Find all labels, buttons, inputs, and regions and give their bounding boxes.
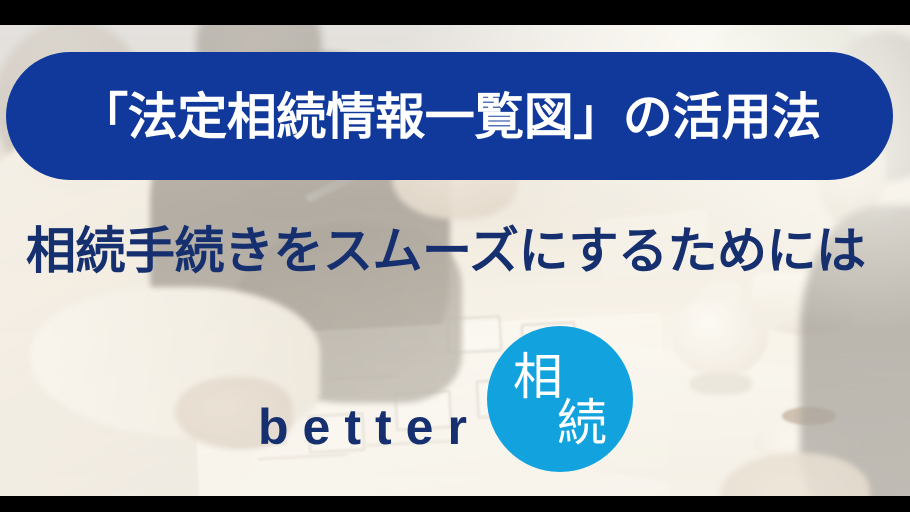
letterbox-top-bar (0, 0, 910, 25)
subtitle-text: 相続手続きをスムーズにするためには (26, 224, 886, 278)
banner-title-text: 「法定相続情報一覧図」の活用法 (78, 92, 821, 142)
letterbox-bottom-bar (0, 496, 910, 512)
logo-kanji-zoku: 続 (557, 398, 607, 448)
logo-kanji-sou: 相 (513, 352, 563, 402)
brand-logo: better 相 続 (258, 326, 633, 472)
logo-wordmark: better (258, 346, 481, 452)
slide-canvas: 「法定相続情報一覧図」の活用法 相続手続きをスムーズにするためには better… (0, 0, 910, 512)
title-banner: 「法定相続情報一覧図」の活用法 (6, 52, 893, 180)
logo-circle-mark: 相 続 (487, 326, 633, 472)
